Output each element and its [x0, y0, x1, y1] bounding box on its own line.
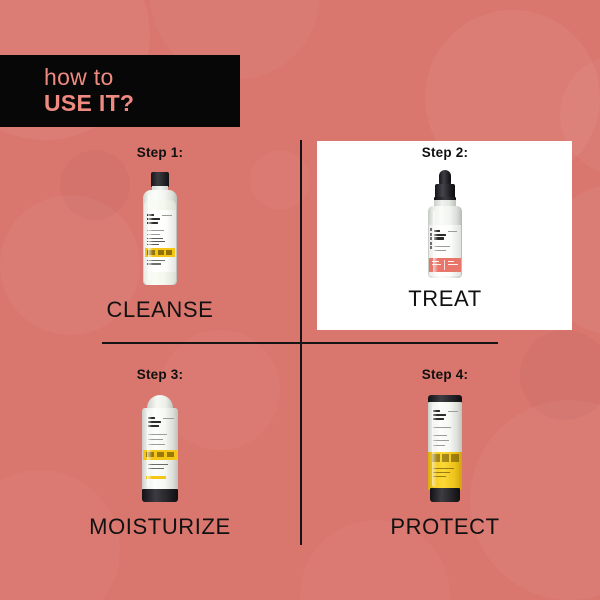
- product-image-cleanser: [140, 172, 180, 285]
- bottle-highlight: [148, 194, 153, 280]
- step-cell-3: Step 3: MOISTURIZE: [30, 367, 290, 540]
- step-cell-2: Step 2: TREAT: [320, 145, 570, 312]
- label-rule: [448, 231, 457, 232]
- step-cell-1: Step 1: CLEANSE: [30, 145, 290, 323]
- sunscreen-tube: [421, 395, 469, 502]
- step-label-4: Step 4:: [422, 367, 468, 382]
- step-label-2: Step 2:: [422, 145, 468, 160]
- step-label-3: Step 3:: [137, 367, 183, 382]
- step-cell-4: Step 4: PROTECT: [320, 367, 570, 540]
- product-image-serum: [423, 170, 467, 278]
- product-image-moisturizer: [136, 395, 184, 502]
- tube-cap: [430, 488, 460, 502]
- title-line-1: how to: [44, 65, 240, 90]
- serum-dropper-bottle: [423, 170, 467, 278]
- cleanser-bottle: [140, 172, 180, 285]
- tube-cap: [142, 489, 178, 502]
- tube-highlight: [147, 411, 152, 487]
- title-banner: how to USE IT?: [0, 55, 240, 127]
- poster-canvas: how to USE IT? Step 1:: [0, 0, 600, 600]
- action-label-3: MOISTURIZE: [89, 514, 231, 540]
- label-rule: [162, 215, 172, 216]
- tube-highlight: [432, 405, 437, 487]
- bottle-highlight: [433, 210, 438, 274]
- label-rule: [448, 411, 458, 412]
- step-label-1: Step 1:: [137, 145, 183, 160]
- label-rule: [163, 418, 174, 419]
- divider-horizontal: [102, 342, 498, 344]
- moisturizer-tube: [136, 395, 184, 502]
- action-label-1: CLEANSE: [107, 297, 214, 323]
- action-label-4: PROTECT: [390, 514, 499, 540]
- product-image-sunscreen: [421, 395, 469, 502]
- title-line-2: USE IT?: [44, 90, 240, 117]
- bottle-cap: [151, 172, 169, 187]
- action-label-2: TREAT: [408, 286, 481, 312]
